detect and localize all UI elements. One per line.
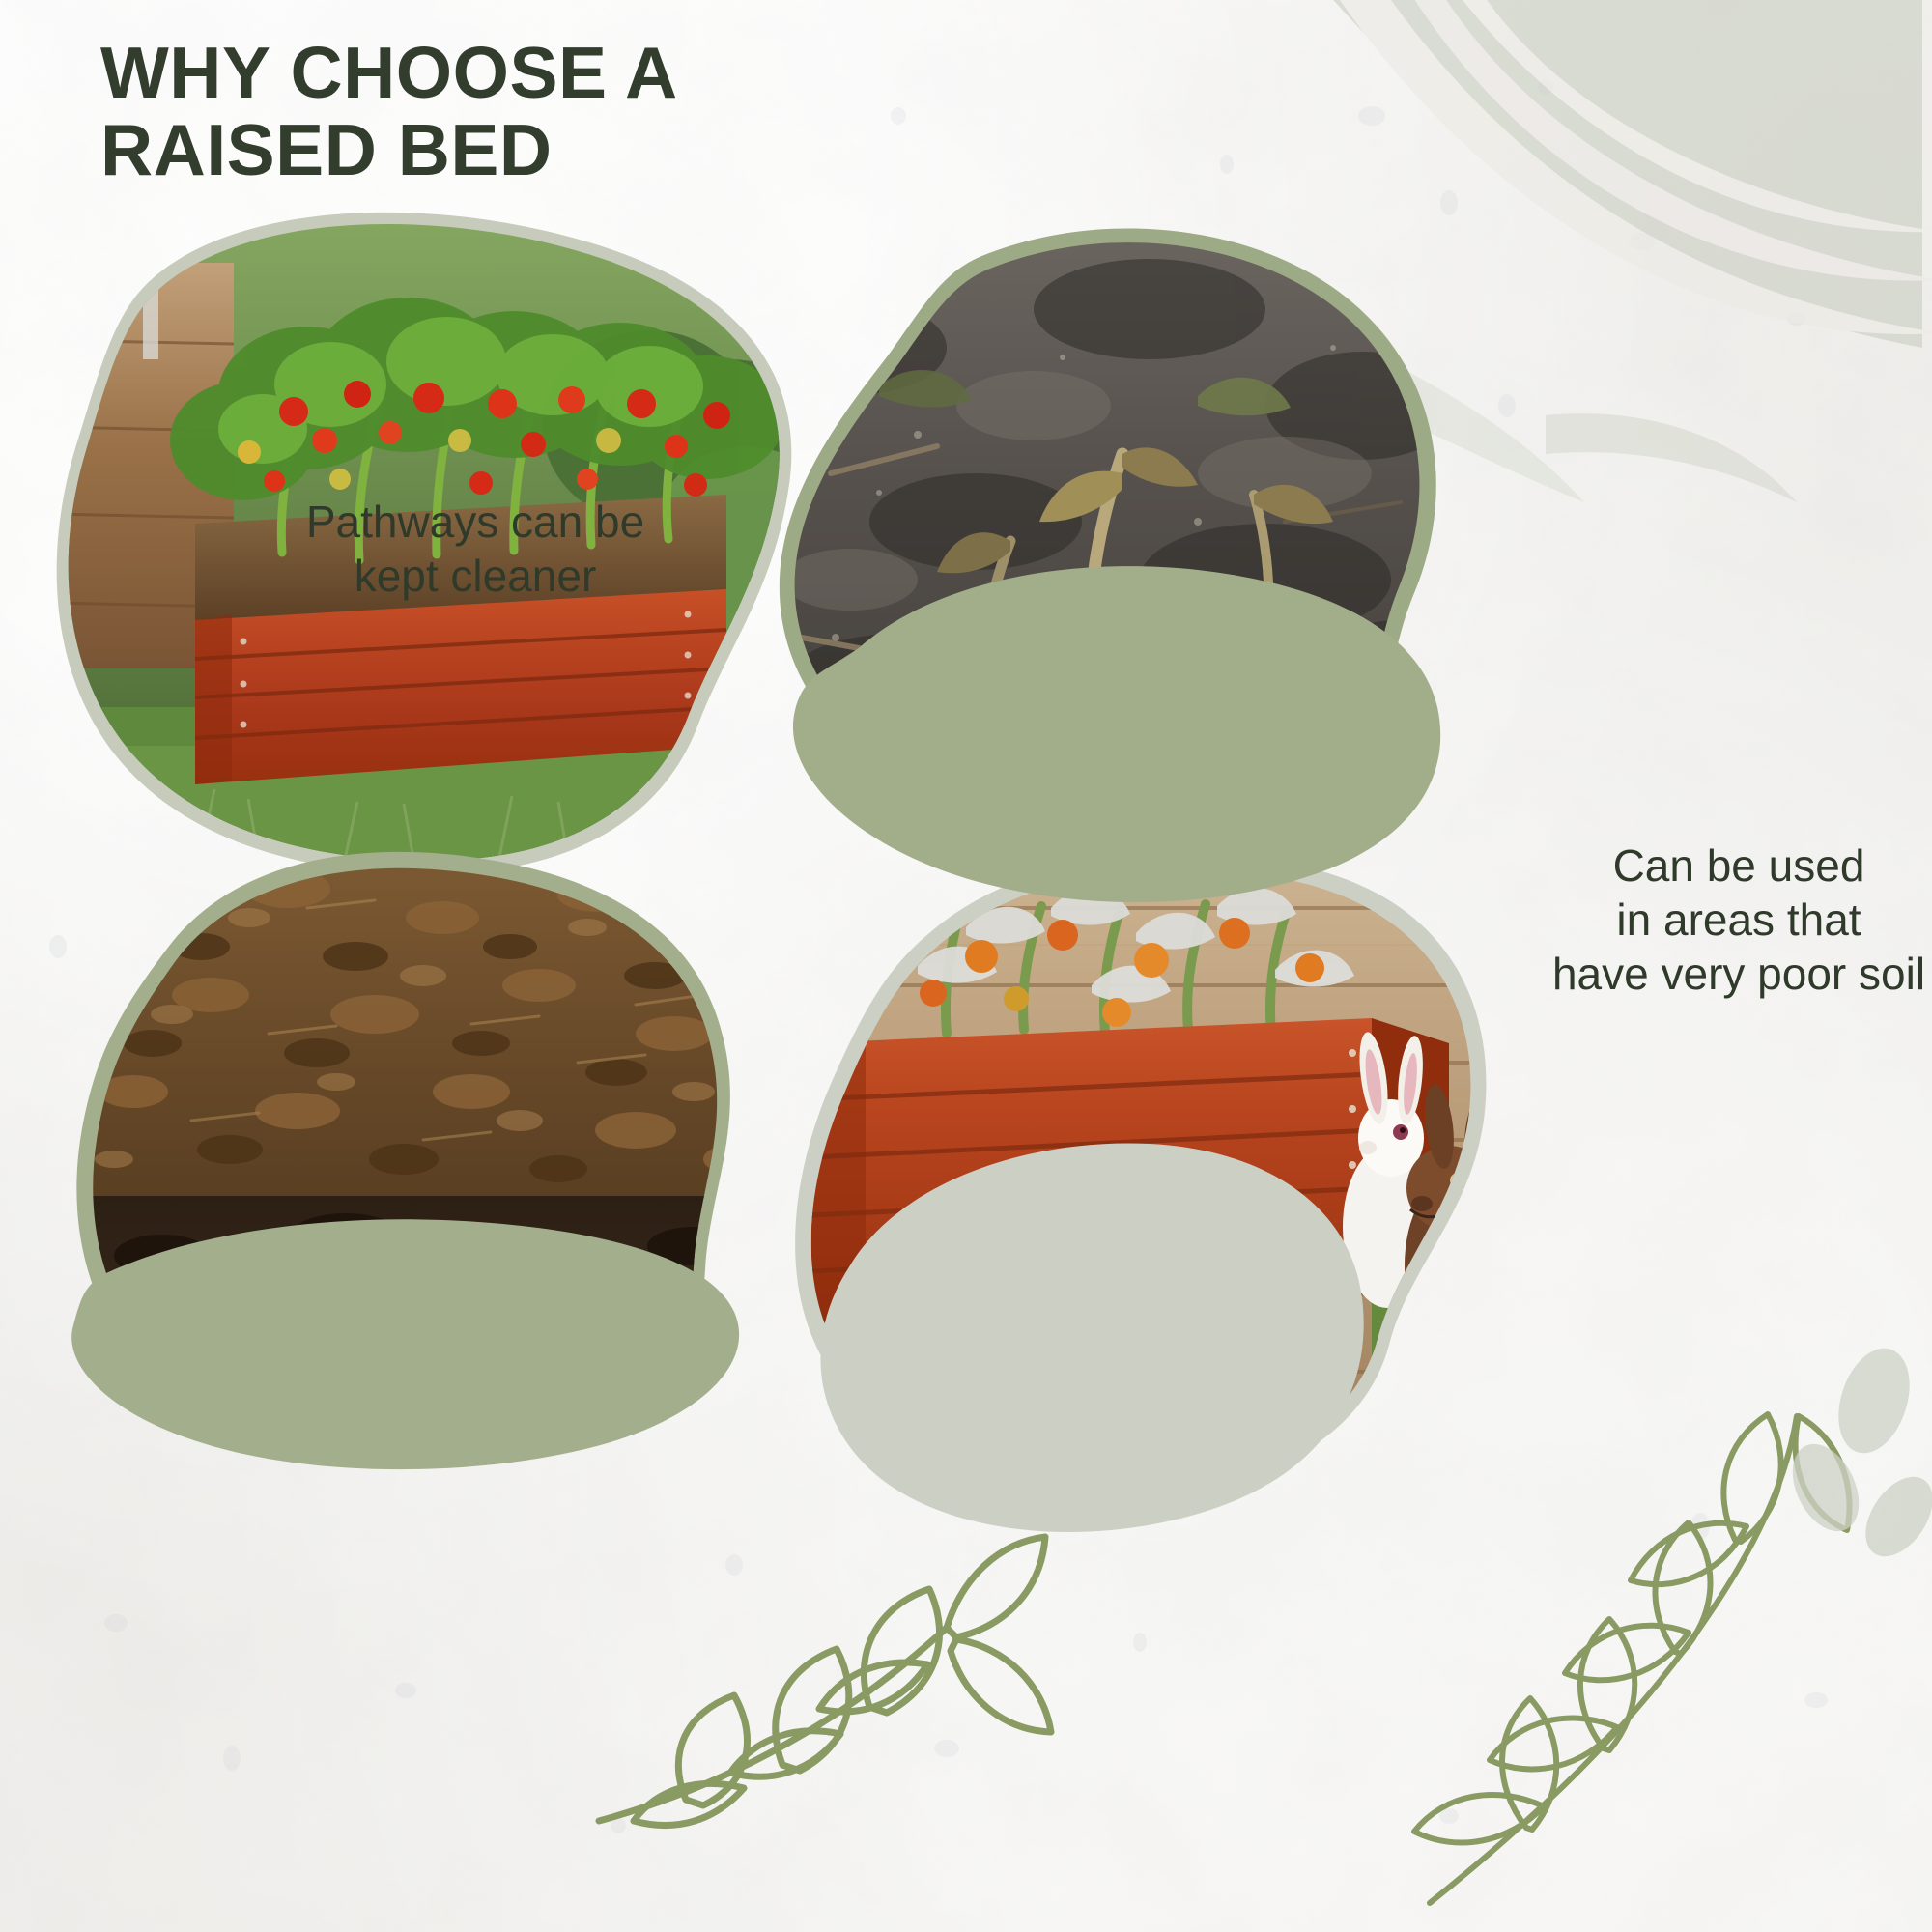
headline-line-2: Raised Bed [100,112,970,189]
caption-line: Can be used [1507,838,1932,893]
panel-soil-types[interactable]: Different beds can hold various types of… [56,850,761,1517]
panel-pathways[interactable]: Pathways can be kept cleaner [50,205,842,881]
page-title: Why Choose a Raised Bed [100,35,970,188]
caption-poor-soil: Can be used in areas that have very poor… [1507,838,1932,1001]
panel-poor-soil[interactable]: Can be used in areas that have very poor… [744,232,1449,869]
panel-kids-pets[interactable]: Helps keep kids and pets from stepping o… [773,840,1507,1536]
headline-line-1: Why Choose a [100,35,970,112]
infographic-page: Why Choose a Raised Bed [0,0,1932,1932]
panel-photo-soil-types [56,850,761,1520]
caption-line: have very poor soil [1507,947,1932,1001]
panel-photo-kids-pets [773,840,1507,1536]
caption-line: in areas that [1507,893,1932,947]
